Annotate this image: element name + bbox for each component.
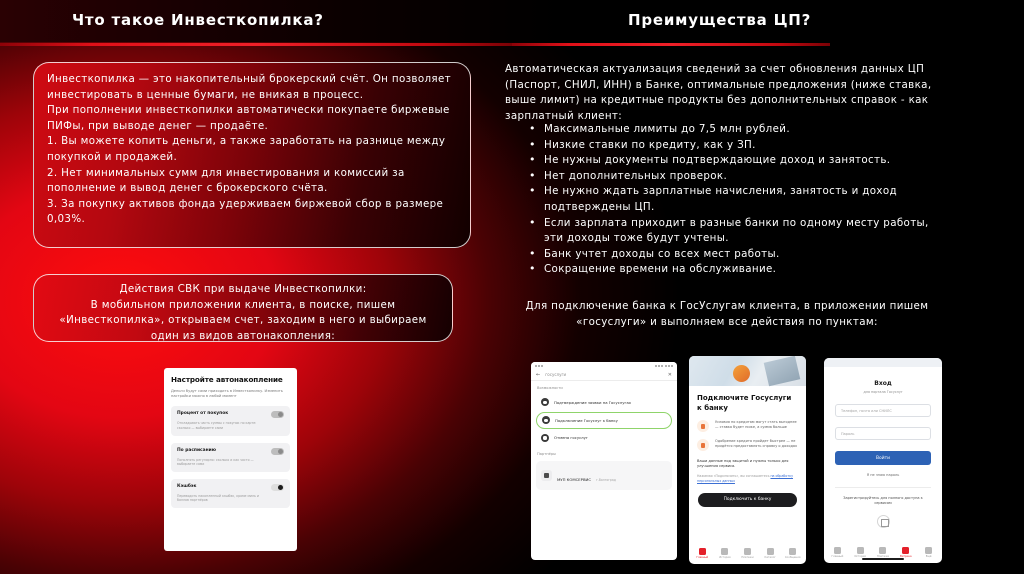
- toggle-switch[interactable]: [271, 484, 284, 491]
- what-line-5: 3. За покупку активов фонда удерживаем б…: [47, 197, 457, 228]
- tab-payments[interactable]: Платежи: [872, 547, 895, 559]
- more-icon: [925, 547, 932, 554]
- list-item: Не нужны документы подтверждающие доход …: [522, 153, 947, 169]
- svk-actions-box: Действия СВК при выдаче Инвесткопилки: В…: [33, 274, 453, 342]
- list-item[interactable]: Процент от покупок Откладывать часть сум…: [171, 406, 290, 435]
- search-bar[interactable]: ← госуслуги ✕: [531, 369, 677, 381]
- privacy-text: Ваши данные под защитой и нужны только д…: [689, 451, 806, 469]
- svk-line-3: один из видов автонакопления:: [44, 329, 442, 345]
- hero-illustration: [689, 356, 806, 386]
- list-item: Если зарплата приходит в разные банки по…: [522, 216, 947, 247]
- partner-name: МУП КОМСЕРВИС: [557, 477, 591, 482]
- list-item: Нет дополнительных проверок.: [522, 169, 947, 185]
- toggle-switch[interactable]: [271, 411, 284, 418]
- bottom-navigation: Главный История Платежи Витрина Ещё: [824, 547, 942, 559]
- register-link[interactable]: Зарегистрируйтесь для полного доступа к …: [835, 496, 931, 506]
- list-item: Не нужно ждать зарплатные начисления, за…: [522, 184, 947, 215]
- login-title: Вход: [835, 380, 931, 387]
- autosave-row-desc: Переводить накопленный кэшбэк, кроме мил…: [177, 494, 260, 503]
- connect-title: Подключите Госуслуги к банку: [689, 386, 806, 413]
- messages-icon: [789, 548, 796, 555]
- autosave-row-title: Кэшбэк: [177, 484, 284, 489]
- section-header-abilities: Возможности: [531, 381, 677, 393]
- header-divider-right: [512, 43, 830, 46]
- home-indicator: [862, 558, 904, 560]
- history-icon: [857, 547, 864, 554]
- what-line-3: 1. Вы можете копить деньги, а также зара…: [47, 134, 457, 165]
- list-item: Условия по кредитам могут стать выгоднее…: [689, 413, 806, 432]
- partner-desc: г.Волгоград: [596, 478, 616, 482]
- toggle-switch[interactable]: [271, 448, 284, 455]
- tab-showcase[interactable]: Витрина: [894, 547, 917, 559]
- tab-label: Главный: [691, 556, 714, 559]
- service-icon: [542, 416, 550, 424]
- tab-more[interactable]: Ещё: [917, 547, 940, 559]
- tab-label: История: [714, 556, 737, 559]
- service-icon: [541, 434, 549, 442]
- tab-label: Сообщения: [781, 556, 804, 559]
- list-item: Банк учтет доходы со всех мест работы.: [522, 247, 947, 263]
- status-bar: [531, 362, 677, 369]
- login-card: Вход для портала Госуслуг Телефон, почта…: [824, 367, 942, 528]
- back-arrow-icon[interactable]: ←: [536, 372, 540, 378]
- list-item[interactable]: Отмена госуслуг: [536, 431, 672, 446]
- header-divider-left: [0, 43, 512, 46]
- partner-logo-icon: [541, 470, 552, 481]
- consent-prefix: Нажимая «Подключить», вы соглашаетесь: [697, 474, 769, 478]
- forgot-password-link[interactable]: Я не знаю пароль: [835, 473, 931, 477]
- close-icon[interactable]: ✕: [668, 372, 672, 378]
- history-icon: [721, 548, 728, 555]
- list-item[interactable]: МУП КОМСЕРВИС г.Волгоград: [536, 461, 672, 490]
- tab-label: Каталог: [759, 556, 782, 559]
- what-is-investkopilka-box: Инвесткопилка — это накопительный брокер…: [33, 62, 471, 248]
- list-item[interactable]: По расписанию Пополнять регулярно: сколь…: [171, 443, 290, 472]
- benefits-list: Максимальные лимиты до 7,5 млн рублей. Н…: [522, 122, 947, 278]
- showcase-icon: [902, 547, 909, 554]
- thumbs-up-icon: [697, 439, 709, 451]
- svk-title: Действия СВК при выдаче Инвесткопилки:: [44, 282, 442, 298]
- what-line-2: При пополнении инвесткопилки автоматичес…: [47, 103, 457, 134]
- browser-chrome: [824, 358, 942, 367]
- autosave-row-desc: Пополнять регулярно: сколько и как часто…: [177, 458, 260, 467]
- tab-main[interactable]: Главный: [826, 547, 849, 559]
- autosave-title: Настройте автонакопление: [171, 375, 290, 384]
- svk-line-1: В мобильном приложении клиента, в поиске…: [44, 298, 442, 314]
- rocket-icon: [697, 420, 709, 432]
- payments-icon: [744, 548, 751, 555]
- autosave-row-title: По расписанию: [177, 448, 284, 453]
- tab-history[interactable]: История: [714, 548, 737, 560]
- feature-text: Условия по кредитам могут стать выгоднее…: [715, 420, 798, 432]
- benefits-intro: Автоматическая актуализация сведений за …: [505, 62, 941, 124]
- section-header-partners: Партнёры: [531, 447, 677, 459]
- home-icon: [834, 547, 841, 554]
- list-item: Сокращение времени на обслуживание.: [522, 262, 947, 278]
- home-icon: [699, 548, 706, 555]
- password-input[interactable]: Пароль: [835, 427, 931, 440]
- tab-label: Платежи: [736, 556, 759, 559]
- search-result-label: Подключение Госуслуг к банку: [555, 418, 618, 423]
- list-item[interactable]: Подключение Госуслуг к банку: [536, 412, 672, 429]
- connect-to-bank-button[interactable]: Подключить к банку: [698, 493, 797, 507]
- screenshot-gosuslugi-login: Вход для портала Госуслуг Телефон, почта…: [824, 358, 942, 563]
- screenshot-connect-gosuslugi: Подключите Госуслуги к банку Условия по …: [689, 356, 806, 564]
- what-line-1: Инвесткопилка — это накопительный брокер…: [47, 72, 457, 103]
- screenshot-autosave-settings: Настройте автонакопление Деньги будут са…: [164, 368, 297, 551]
- consent-text: Нажимая «Подключить», вы соглашаетесь на…: [689, 469, 806, 483]
- list-item: Низкие ставки по кредиту, как у ЗП.: [522, 138, 947, 154]
- screenshot-gosuslugi-search: ← госуслуги ✕ Возможности Подтверждение …: [531, 362, 677, 560]
- tab-payments[interactable]: Платежи: [736, 548, 759, 560]
- what-line-4: 2. Нет минимальных сумм для инвестирован…: [47, 166, 457, 197]
- login-input[interactable]: Телефон, почта или СНИЛС: [835, 404, 931, 417]
- qr-code-icon[interactable]: [877, 515, 890, 528]
- presentation-slide: Что такое Инвесткопилка? Преимущества ЦП…: [0, 0, 1024, 574]
- autosave-subtitle: Деньги будут сами приходить в Инвесткопи…: [171, 389, 290, 399]
- page-title-left: Что такое Инвесткопилка?: [72, 11, 324, 29]
- list-item[interactable]: Кэшбэк Переводить накопленный кэшбэк, кр…: [171, 479, 290, 508]
- signal-icon: [535, 365, 543, 367]
- autosave-row-title: Процент от покупок: [177, 411, 284, 416]
- divider: [835, 487, 931, 488]
- tab-messages[interactable]: Сообщения: [781, 548, 804, 560]
- service-icon: [541, 398, 549, 406]
- tab-main[interactable]: Главный: [691, 548, 714, 560]
- tab-label: Главный: [826, 555, 849, 558]
- catalog-icon: [767, 548, 774, 555]
- list-item: Одобрение кредита пройдет быстрее — не п…: [689, 432, 806, 451]
- svk-line-2: «Инвесткопилка», открываем счет, заходим…: [44, 313, 442, 329]
- gosuslugi-instruction-note: Для подключение банка к ГосУслугам клиен…: [512, 299, 942, 331]
- search-input[interactable]: госуслуги: [545, 372, 663, 377]
- bottom-navigation: Главный История Платежи Каталог Сообщени…: [689, 548, 806, 560]
- search-result-label: Подтверждение заявки на Госуслугах: [554, 400, 631, 405]
- submit-button[interactable]: Войти: [835, 451, 931, 465]
- list-item: Максимальные лимиты до 7,5 млн рублей.: [522, 122, 947, 138]
- page-title-right: Преимущества ЦП?: [628, 11, 811, 29]
- tab-history[interactable]: История: [849, 547, 872, 559]
- tab-label: Ещё: [917, 555, 940, 558]
- feature-text: Одобрение кредита пройдет быстрее — не п…: [715, 439, 798, 451]
- payments-icon: [879, 547, 886, 554]
- autosave-row-desc: Откладывать часть суммы с покупок по кар…: [177, 421, 260, 430]
- battery-icon: [655, 365, 673, 367]
- list-item[interactable]: Подтверждение заявки на Госуслугах: [536, 395, 672, 410]
- tab-catalog[interactable]: Каталог: [759, 548, 782, 560]
- search-result-label: Отмена госуслуг: [554, 435, 588, 440]
- login-subtitle: для портала Госуслуг: [835, 390, 931, 394]
